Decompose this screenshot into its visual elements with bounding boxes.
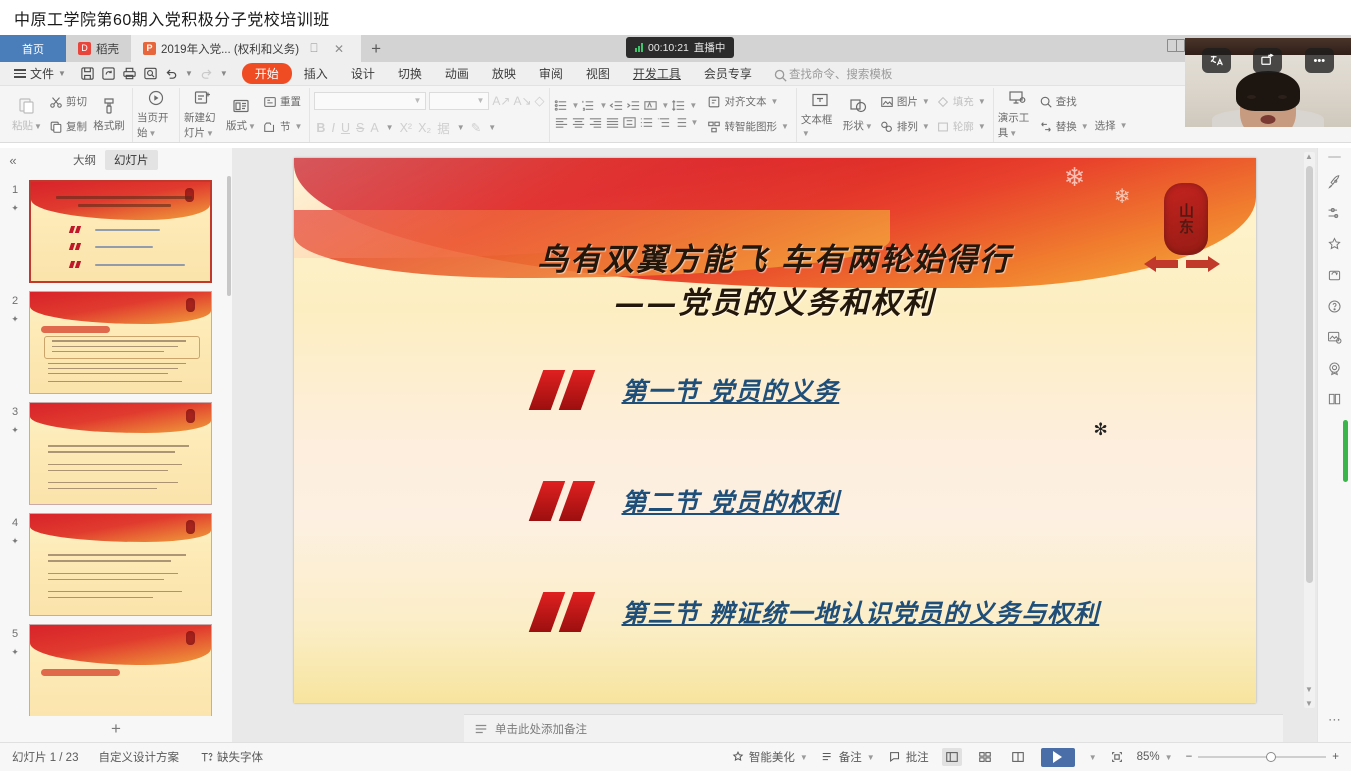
- subscript-icon[interactable]: X₂: [416, 121, 433, 135]
- fit-window-icon: [1110, 750, 1124, 764]
- line-spacing-icon[interactable]: [671, 98, 686, 113]
- clipboard-subactions: 剪切 复制: [46, 88, 90, 140]
- close-icon[interactable]: ✕: [329, 42, 349, 56]
- start-slideshow-button[interactable]: [1041, 748, 1075, 767]
- fit-to-window-button[interactable]: [1110, 750, 1124, 764]
- list-item[interactable]: 2 ✦: [0, 287, 232, 398]
- tab-design[interactable]: 设计: [340, 63, 386, 84]
- tab-animation[interactable]: 动画: [434, 63, 480, 84]
- status-right: 智能美化 ▼ 备注 ▼ 批注 ▼: [731, 748, 1351, 767]
- sorter-view-icon: [978, 750, 992, 764]
- tab-member-exclusive-label: 会员专享: [704, 67, 752, 81]
- thumbnail-number: 4: [12, 517, 18, 529]
- thumbnail-number: 3: [12, 406, 18, 418]
- format-painter-label: 格式刷: [93, 118, 125, 133]
- thumbnail-number: 1: [12, 184, 18, 196]
- wps-presentation-window: 中原工学院第60期入党积极分子党校培训班 首页 D 稻壳 P 2019年入党..…: [0, 0, 1351, 771]
- help-circle-icon[interactable]: [1326, 298, 1343, 315]
- text-format-row: B I U S A▼ X² X₂ 据▼ ✎▼: [314, 116, 544, 140]
- chevron-bullet-icon: [534, 481, 600, 521]
- tools-group: 演示工具▼ 查找 替换▼ 选择▼: [994, 88, 1135, 142]
- align-text-label: 对齐文本: [724, 94, 766, 109]
- list-item[interactable]: 第三节 辨证统一地认识党员的义务与权利: [534, 592, 1216, 632]
- numbered-list-icon[interactable]: [581, 98, 596, 113]
- tab-review-label: 审阅: [539, 67, 563, 81]
- arrange-label: 排列: [897, 119, 918, 134]
- mini-slide-art: [31, 182, 210, 281]
- thumbnail-slide-1[interactable]: [29, 180, 212, 283]
- image-edit-icon[interactable]: [1326, 329, 1343, 346]
- textbox-icon: [810, 90, 830, 110]
- window-title-bar: 中原工学院第60期入党积极分子党校培训班: [0, 0, 1351, 35]
- replace-label: 替换: [1056, 119, 1077, 134]
- play-icon: [1053, 751, 1062, 763]
- paste-label: 粘贴: [12, 120, 33, 132]
- new-slide-icon: [193, 88, 213, 108]
- convert-to-smartart-button[interactable]: 转智能图形▼: [704, 116, 791, 138]
- bullet-list-icon[interactable]: [554, 98, 569, 113]
- ribbon-tab-list: 开始 插入 设计 切换 动画 放映 审阅 视图 开发工具 会员专享: [242, 63, 763, 84]
- document-tab-strip: 首页 D 稻壳 P 2019年入党... (权利和义务) ⎕ ✕ + 00:10…: [0, 35, 1351, 62]
- copy-button[interactable]: 复制: [46, 116, 90, 138]
- align-text-button[interactable]: 对齐文本▼: [704, 91, 791, 113]
- mini-slide-art: [30, 292, 211, 393]
- fill-outline-column: 填充▼ 轮廓▼: [933, 88, 989, 140]
- status-bar: 幻灯片 1 / 23 自定义设计方案 缺失字体 智能美化 ▼ 备注 ▼ 批注: [0, 742, 1351, 771]
- shape-button[interactable]: 形状▼: [839, 88, 877, 140]
- font-controls-row: ▼ ▼ A↗ A↘ ◇: [314, 89, 544, 113]
- shape-label: 形状: [843, 120, 864, 132]
- paste-button[interactable]: 粘贴▼: [8, 88, 46, 140]
- tab-comment-icon[interactable]: ⎕: [304, 41, 324, 56]
- rocket-icon[interactable]: [1326, 174, 1343, 191]
- slide-subactions: 重置 节▼: [260, 88, 305, 140]
- increase-indent-icon[interactable]: [626, 98, 641, 113]
- section-icon: [263, 120, 277, 134]
- paragraph-row-bottom: ▼: [554, 115, 699, 130]
- beautify-label: 智能美化: [749, 749, 795, 765]
- slide-thumbnail-panel: « 大纲 幻灯片 1 ✦: [0, 148, 232, 742]
- textbox-button[interactable]: 文本框▼: [801, 88, 839, 140]
- status-left: 幻灯片 1 / 23 自定义设计方案 缺失字体: [0, 749, 263, 765]
- chevron-bullet-icon: [534, 370, 600, 410]
- file-menu-button[interactable]: 文件 ▼: [8, 65, 72, 82]
- layout-label: 版式: [226, 120, 247, 132]
- view-normal-button[interactable]: [942, 748, 962, 766]
- tab-insert-label: 插入: [304, 67, 328, 81]
- chevron-down-icon: ▼: [58, 69, 66, 78]
- tab-slides[interactable]: 幻灯片: [105, 150, 158, 170]
- chevron-down-icon: ▼: [800, 753, 808, 762]
- slide-canvas[interactable]: ❄ ❄ 山东 鸟有双翼方能飞 车有两轮始得行 ——党员的义务和权利: [294, 158, 1256, 703]
- tab-start[interactable]: 开始: [242, 63, 292, 84]
- editor-vertical-scrollbar[interactable]: ▲ ▼ ▼: [1304, 152, 1315, 708]
- distribute-icon[interactable]: [622, 115, 637, 130]
- picture-label: 图片: [897, 94, 918, 109]
- zoom-knob[interactable]: [1266, 752, 1276, 762]
- thumbnail-number: 5: [12, 628, 18, 640]
- mouse-cursor-icon: ✻: [1094, 420, 1108, 440]
- ribbon-toolbar: 粘贴▼ 剪切 复制 格式刷 当页开始▼: [0, 86, 1351, 143]
- underline-icon[interactable]: U: [339, 121, 352, 135]
- paragraph-controls: ▼ ▼ ▼ ▼ ▼: [554, 88, 699, 140]
- right-tool-rail: ⋯: [1317, 148, 1351, 742]
- highlight-icon[interactable]: ✎: [469, 120, 483, 135]
- search-icon: [773, 68, 785, 80]
- section-link-3[interactable]: 第三节 辨证统一地认识党员的义务与权利: [622, 594, 1100, 630]
- collapse-panel-button[interactable]: «: [0, 153, 26, 168]
- missing-font-label: 缺失字体: [217, 749, 263, 765]
- smart-beautify-button[interactable]: 智能美化 ▼: [731, 749, 808, 765]
- font-warning-icon: [199, 750, 213, 764]
- multilevel-list-icon[interactable]: [656, 115, 671, 130]
- select-column: 选择▼: [1092, 88, 1131, 140]
- chevron-down-icon: ▼: [1165, 753, 1173, 762]
- more-options-icon[interactable]: •••: [1305, 48, 1334, 73]
- presentation-tool-button[interactable]: 演示工具▼: [998, 88, 1036, 140]
- tab-member-exclusive[interactable]: 会员专享: [693, 63, 763, 84]
- tab-view-label: 视图: [586, 67, 610, 81]
- mini-slide-art: [30, 625, 211, 716]
- tab-transition[interactable]: 切换: [387, 63, 433, 84]
- webcam-eye: [1247, 95, 1256, 99]
- slideshow-options-icon[interactable]: ▼: [1089, 753, 1097, 762]
- text-direction-icon[interactable]: [643, 98, 658, 113]
- picture-button[interactable]: 图片▼: [877, 91, 933, 113]
- thumbnail-index: 4 ✦: [4, 513, 26, 547]
- shape-icon: [848, 96, 868, 116]
- command-search[interactable]: 查找命令、搜索模板: [773, 66, 893, 82]
- play-circle-icon: [146, 88, 166, 108]
- notes-toggle-button[interactable]: 备注 ▼: [821, 749, 875, 765]
- section-label: 节: [280, 119, 291, 134]
- align-left-icon[interactable]: [554, 115, 569, 130]
- zoom-in-button[interactable]: +: [1332, 751, 1339, 763]
- text-tools-column: 对齐文本▼ 转智能图形▼: [704, 88, 791, 140]
- font-family-select[interactable]: ▼: [314, 92, 426, 110]
- convert-smartart-label: 转智能图形: [724, 119, 777, 134]
- print-icon[interactable]: [122, 66, 137, 81]
- mini-slide-art: [30, 514, 211, 615]
- fill-icon: [936, 95, 950, 109]
- thumbnail-panel-header: « 大纲 幻灯片: [0, 148, 232, 172]
- redo-icon: [199, 66, 214, 81]
- file-menu-label: 文件: [30, 65, 54, 82]
- search-icon: [1039, 95, 1053, 109]
- cut-label: 剪切: [66, 94, 87, 109]
- zoom-track[interactable]: [1198, 756, 1326, 758]
- undo-dropdown-icon[interactable]: ▼: [185, 69, 193, 78]
- dove-icon: ❄: [1114, 184, 1131, 209]
- align-text-icon: [707, 95, 721, 109]
- comment-label: 批注: [906, 749, 929, 765]
- superscript-icon[interactable]: X²: [398, 121, 415, 135]
- share-screen-icon[interactable]: [1253, 48, 1282, 73]
- fill-button[interactable]: 填充▼: [933, 91, 989, 113]
- zoom-slider[interactable]: − +: [1186, 751, 1339, 763]
- outline-button[interactable]: 轮廓▼: [933, 116, 989, 138]
- thumbnail-slide-2[interactable]: [29, 291, 212, 394]
- hamburger-icon: [14, 69, 26, 77]
- copy-label: 复制: [66, 119, 87, 134]
- text-shadow-icon[interactable]: A: [368, 121, 380, 135]
- sync-icon[interactable]: [1326, 267, 1343, 284]
- select-label: 选择: [1095, 118, 1116, 133]
- format-painter-button[interactable]: 格式刷: [90, 88, 128, 140]
- bold-icon[interactable]: B: [314, 121, 327, 135]
- increase-font-size-icon[interactable]: A↗: [492, 94, 510, 108]
- notes-placeholder: 单击此处添加备注: [495, 721, 587, 737]
- tab-start-label: 开始: [255, 67, 279, 81]
- presentation-tool-icon: [1007, 88, 1027, 108]
- tab-view[interactable]: 视图: [575, 63, 621, 84]
- clipboard-group: 粘贴▼ 剪切 复制 格式刷: [4, 88, 133, 142]
- chevron-down-icon: ▼: [867, 753, 875, 762]
- section-button[interactable]: 节▼: [260, 116, 305, 138]
- animation-star-icon: ✦: [4, 647, 26, 658]
- view-reading-button[interactable]: [1008, 748, 1028, 766]
- layout-icon: [231, 96, 251, 116]
- live-timer: 00:10:21: [648, 42, 689, 54]
- paste-icon: [17, 96, 37, 116]
- notes-icon: [821, 750, 835, 764]
- live-stream-indicator: 00:10:21 直播中: [626, 37, 734, 58]
- arrange-button[interactable]: 排列▼: [877, 116, 933, 138]
- font-size-select[interactable]: ▼: [429, 92, 489, 110]
- book-icon[interactable]: [1326, 391, 1343, 408]
- tab-transition-label: 切换: [398, 67, 422, 81]
- justify-icon[interactable]: [605, 115, 620, 130]
- animation-star-icon: ✦: [4, 314, 26, 325]
- live-status-label: 直播中: [694, 40, 726, 55]
- slides-group: 新建幻灯片▼ 版式▼ 重置 节▼: [180, 88, 310, 142]
- outline-icon: [936, 120, 950, 134]
- window-restore-icon[interactable]: [1167, 39, 1185, 52]
- comment-button[interactable]: 批注: [888, 749, 929, 765]
- list-item[interactable]: 1 ✦: [0, 176, 232, 287]
- tab-animation-label: 动画: [445, 67, 469, 81]
- paragraph-group: ▼ ▼ ▼ ▼ ▼: [550, 88, 797, 142]
- signal-bars-icon: [635, 43, 643, 52]
- tab-home-label: 首页: [22, 41, 44, 57]
- normal-view-icon: [945, 750, 959, 764]
- rail-divider: [1328, 156, 1341, 158]
- notes-label: 备注: [839, 749, 862, 765]
- print-preview-icon[interactable]: [143, 66, 158, 81]
- paragraph-row-top: ▼ ▼ ▼ ▼: [554, 98, 699, 113]
- cloud-save-icon[interactable]: [101, 66, 116, 81]
- page-title: 中原工学院第60期入党积极分子党校培训班: [14, 6, 330, 30]
- tab-presentation-document[interactable]: P 2019年入党... (权利和义务) ⎕ ✕: [131, 35, 361, 62]
- align-right-icon[interactable]: [588, 115, 603, 130]
- rail-more-icon[interactable]: ⋯: [1328, 712, 1341, 728]
- comment-icon: [888, 750, 902, 764]
- find-label: 查找: [1056, 94, 1077, 109]
- columns-icon[interactable]: [639, 115, 654, 130]
- thumbnail-number: 2: [12, 295, 18, 307]
- magic-star-icon[interactable]: [1326, 236, 1343, 253]
- thumbnail-index: 2 ✦: [4, 291, 26, 325]
- select-button[interactable]: 选择▼: [1092, 114, 1131, 136]
- rail-scroll-indicator[interactable]: [1343, 420, 1348, 482]
- reset-button[interactable]: 重置: [260, 91, 305, 113]
- new-tab-label: +: [371, 39, 381, 59]
- view-slide-sorter-button[interactable]: [975, 748, 995, 766]
- quick-access-toolbar: ▼ ▼: [72, 66, 236, 81]
- font-group: ▼ ▼ A↗ A↘ ◇ B I U S A▼ X² X₂ 据▼ ✎▼: [310, 88, 549, 142]
- tab-document-label: 2019年入党... (权利和义务): [161, 41, 299, 57]
- badge-icon[interactable]: [1326, 360, 1343, 377]
- list-item[interactable]: 3 ✦: [0, 398, 232, 509]
- slide-title[interactable]: 鸟有双翼方能飞 车有两轮始得行: [294, 234, 1256, 279]
- sliders-icon[interactable]: [1326, 205, 1343, 222]
- thumbnail-index: 5 ✦: [4, 624, 26, 658]
- chevron-bullet-icon: [534, 592, 600, 632]
- slide-editor-area[interactable]: ❄ ❄ 山东 鸟有双翼方能飞 车有两轮始得行 ——党员的义务和权利: [232, 148, 1317, 742]
- docer-icon: D: [78, 42, 91, 55]
- translate-icon[interactable]: [1202, 48, 1231, 73]
- reset-label: 重置: [280, 94, 301, 109]
- add-slide-label: +: [111, 719, 121, 739]
- fill-label: 填充: [953, 94, 974, 109]
- cut-button[interactable]: 剪切: [46, 91, 90, 113]
- thumbnail-slide-3[interactable]: [29, 402, 212, 505]
- start-show-group: 当页开始▼: [133, 88, 180, 142]
- replace-button[interactable]: 替换▼: [1036, 116, 1092, 138]
- qat-more-icon[interactable]: ▼: [220, 69, 228, 78]
- undo-icon[interactable]: [164, 66, 179, 81]
- add-slide-button[interactable]: +: [0, 716, 232, 742]
- list-item[interactable]: 4 ✦: [0, 509, 232, 620]
- slide-counter: 幻灯片 1 / 23: [12, 749, 78, 765]
- webcam-person-hair: [1236, 71, 1300, 111]
- picture-fill-column: 图片▼ 排列▼: [877, 88, 933, 140]
- slide-bullet-list: 第一节 党员的义务 第二节 党员的权利 第三节 辨证统一地认识党员的义务与权利: [534, 370, 1216, 703]
- tab-docer[interactable]: D 稻壳: [66, 35, 131, 62]
- thumbnail-slide-4[interactable]: [29, 513, 212, 616]
- drawing-group: 文本框▼ 形状▼ 图片▼ 排列▼ 填充▼: [797, 88, 994, 142]
- notes-pane[interactable]: 单击此处添加备注: [464, 714, 1283, 742]
- thumbnail-scrollbar[interactable]: [227, 176, 231, 296]
- tab-design-label: 设计: [351, 67, 375, 81]
- decrease-font-size-icon[interactable]: A↘: [513, 94, 531, 108]
- list-item[interactable]: 5 ✦: [0, 620, 232, 716]
- command-search-label: 查找命令、搜索模板: [789, 66, 893, 82]
- smartart-icon: [707, 120, 721, 134]
- picture-icon: [880, 95, 894, 109]
- save-icon[interactable]: [80, 66, 95, 81]
- list-item[interactable]: 第一节 党员的义务: [534, 370, 1216, 410]
- webcam-eye: [1278, 95, 1287, 99]
- zoom-level[interactable]: 85% ▼: [1137, 751, 1173, 763]
- clear-format-icon[interactable]: ◇: [535, 93, 545, 109]
- new-tab-button[interactable]: +: [361, 35, 391, 62]
- arrange-icon: [880, 120, 894, 134]
- animation-star-icon: ✦: [4, 203, 26, 214]
- missing-font-button[interactable]: 缺失字体: [199, 749, 263, 765]
- reset-icon: [263, 95, 277, 109]
- tab-slideshow-label: 放映: [492, 67, 516, 81]
- tab-outline[interactable]: 大纲: [64, 150, 105, 170]
- thumbnail-index: 1 ✦: [4, 180, 26, 214]
- new-slide-button[interactable]: 新建幻灯片▼: [184, 88, 222, 140]
- animation-star-icon: ✦: [4, 536, 26, 547]
- tab-slideshow[interactable]: 放映: [481, 63, 527, 84]
- find-button[interactable]: 查找: [1036, 91, 1092, 113]
- animation-star-icon: ✦: [4, 425, 26, 436]
- outline-label: 轮廓: [953, 119, 974, 134]
- format-painter-icon: [99, 96, 119, 116]
- reading-view-icon: [1011, 750, 1025, 764]
- layout-button[interactable]: 版式▼: [222, 88, 260, 140]
- tab-insert[interactable]: 插入: [293, 63, 339, 84]
- thumbnail-list[interactable]: 1 ✦: [0, 172, 232, 716]
- zoom-out-button[interactable]: −: [1186, 751, 1193, 763]
- zoom-level-label: 85%: [1137, 751, 1160, 763]
- mini-slide-art: [30, 403, 211, 504]
- tab-review[interactable]: 审阅: [528, 63, 574, 84]
- webcam-controls: •••: [1185, 48, 1351, 73]
- presentation-file-icon: P: [143, 42, 156, 55]
- scissors-icon: [49, 95, 63, 109]
- tab-developer-tools[interactable]: 开发工具: [622, 63, 692, 84]
- list-item[interactable]: 第二节 党员的权利: [534, 481, 1216, 521]
- find-replace-column: 查找 替换▼: [1036, 88, 1092, 140]
- replace-icon: [1039, 120, 1053, 134]
- thumbnail-slide-5[interactable]: [29, 624, 212, 716]
- character-spacing-icon[interactable]: 据: [435, 118, 452, 137]
- webcam-overlay[interactable]: •••: [1185, 38, 1351, 127]
- thumbnail-index: 3 ✦: [4, 402, 26, 436]
- dove-icon: ❄: [1064, 162, 1086, 193]
- beautify-icon: [731, 750, 745, 764]
- menu-bar: 文件 ▼ ▼ ▼ 开始 插入 设计 切换 动画 放映 审阅 视图 开发工具 会员…: [0, 62, 1351, 86]
- tab-home[interactable]: 首页: [0, 35, 66, 62]
- align-center-icon[interactable]: [571, 115, 586, 130]
- list-options-icon[interactable]: [673, 115, 688, 130]
- slide-1-content: ❄ ❄ 山东 鸟有双翼方能飞 车有两轮始得行 ——党员的义务和权利: [294, 158, 1256, 703]
- tab-developer-tools-label: 开发工具: [633, 67, 681, 81]
- section-link-1[interactable]: 第一节 党员的义务: [622, 372, 840, 408]
- copy-icon: [49, 120, 63, 134]
- start-from-current-button[interactable]: 当页开始▼: [137, 88, 175, 140]
- seal-text: 山东: [1178, 203, 1193, 235]
- decrease-indent-icon[interactable]: [609, 98, 624, 113]
- italic-icon[interactable]: I: [329, 121, 336, 135]
- textbox-label: 文本框: [801, 114, 833, 126]
- section-link-2[interactable]: 第二节 党员的权利: [622, 483, 840, 519]
- notes-icon: [474, 722, 488, 736]
- design-scheme-button[interactable]: 自定义设计方案: [98, 749, 179, 765]
- webcam-mouth: [1261, 115, 1276, 124]
- main-workspace: « 大纲 幻灯片 1 ✦: [0, 148, 1351, 742]
- slide-subtitle[interactable]: ——党员的义务和权利: [294, 278, 1256, 322]
- tab-docer-label: 稻壳: [96, 41, 119, 57]
- strikethrough-icon[interactable]: S: [354, 121, 366, 135]
